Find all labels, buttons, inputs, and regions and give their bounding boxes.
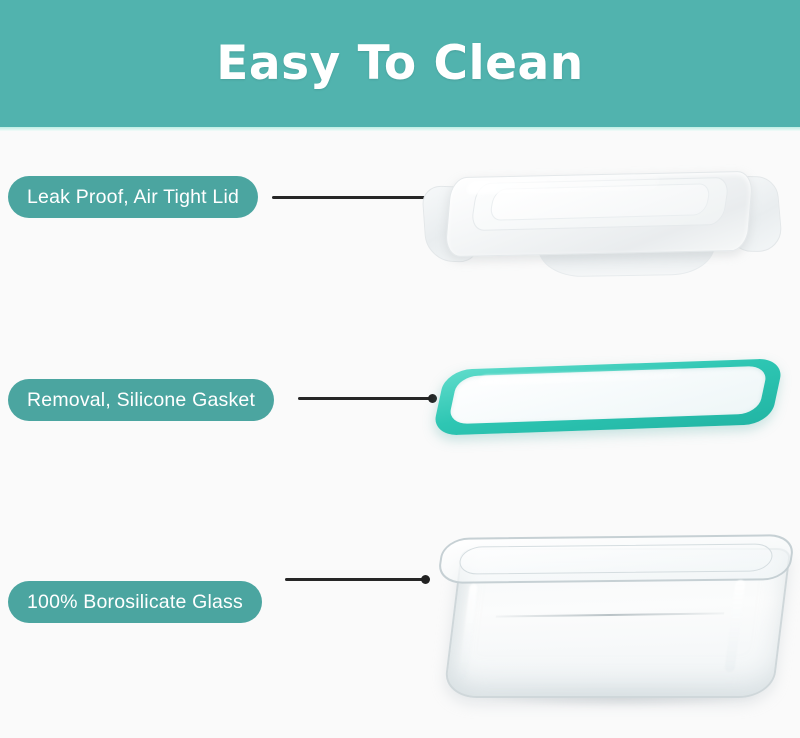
leader-line-glass bbox=[285, 578, 425, 581]
glass-rim-inner bbox=[457, 543, 775, 574]
callout-label-glass[interactable]: 100% Borosilicate Glass bbox=[8, 581, 262, 623]
product-image-gasket bbox=[432, 358, 792, 450]
product-image-lid bbox=[408, 162, 798, 292]
leader-dot-glass bbox=[421, 575, 430, 584]
banner-bottom-edge bbox=[0, 127, 800, 131]
callout-label-gasket[interactable]: Removal, Silicone Gasket bbox=[8, 379, 274, 421]
page-title: Easy To Clean bbox=[216, 36, 583, 91]
leader-line-gasket bbox=[298, 397, 432, 400]
header-banner: Easy To Clean bbox=[0, 0, 800, 127]
callout-label-lid[interactable]: Leak Proof, Air Tight Lid bbox=[8, 176, 258, 218]
product-image-glass-container bbox=[430, 528, 800, 718]
